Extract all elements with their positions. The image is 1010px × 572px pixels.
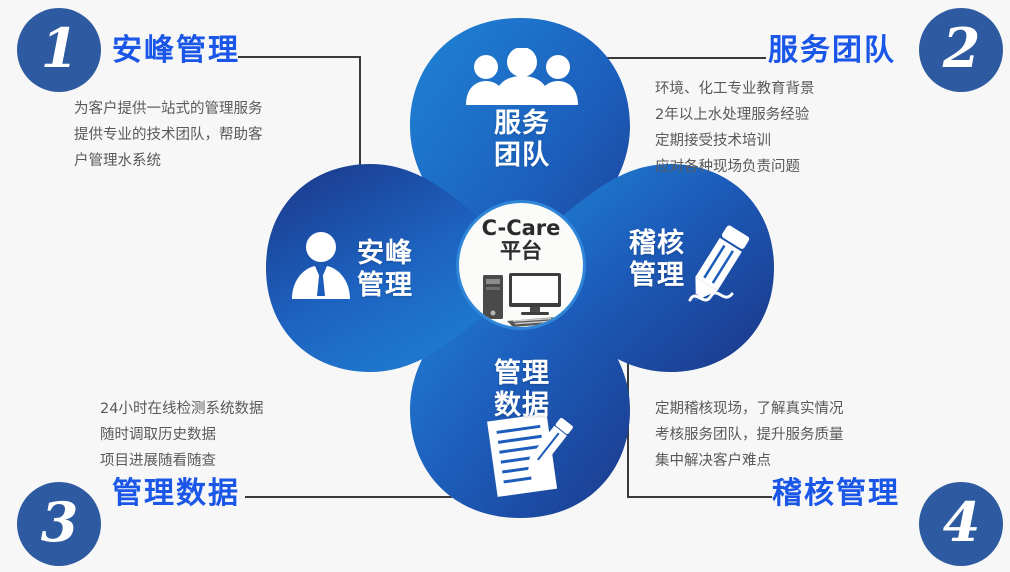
step-number-2: 2	[943, 21, 980, 75]
body-line: 户管理水系统	[74, 148, 263, 174]
center-hub[interactable]: C-Care 平台	[456, 200, 586, 330]
quadrant-title-3: 管理数据	[112, 468, 240, 512]
step-badge-4: 4	[919, 482, 1003, 566]
quadrant-body-1: 为客户提供一站式的管理服务提供专业的技术团队，帮助客户管理水系统	[74, 96, 263, 174]
people-group-icon	[464, 48, 580, 106]
body-line: 应对各种现场负责问题	[655, 154, 815, 180]
petal-label-right: 稽核 管理	[617, 228, 697, 292]
quadrant-title-1: 安峰管理	[112, 25, 240, 69]
body-line: 为客户提供一站式的管理服务	[74, 96, 263, 122]
desktop-computer-icon	[481, 271, 569, 327]
body-line: 提供专业的技术团队，帮助客	[74, 122, 263, 148]
body-line: 定期稽核现场，了解真实情况	[655, 396, 844, 422]
infographic-canvas: 服务 团队 安峰 管理 稽核 管理 管理 数据 C-Care 平台 1	[0, 0, 1010, 572]
body-line: 随时调取历史数据	[100, 422, 263, 448]
step-number-4: 4	[943, 495, 980, 549]
quadrant-body-3: 24小时在线检测系统数据随时调取历史数据项目进展随看随查	[100, 396, 263, 474]
quadrant-body-4: 定期稽核现场，了解真实情况考核服务团队，提升服务质量集中解决客户难点	[655, 396, 844, 474]
step-number-1: 1	[41, 21, 78, 75]
body-line: 24小时在线检测系统数据	[100, 396, 263, 422]
body-line: 项目进展随看随查	[100, 448, 263, 474]
step-badge-1: 1	[17, 8, 101, 92]
step-badge-3: 3	[17, 482, 101, 566]
petal-label-left: 安峰 管理	[345, 238, 425, 302]
body-line: 定期接受技术培训	[655, 128, 815, 154]
petal-label-bottom: 管理 数据	[482, 358, 562, 422]
quadrant-body-2: 环境、化工专业教育背景2年以上水处理服务经验定期接受技术培训应对各种现场负责问题	[655, 76, 815, 180]
step-number-3: 3	[41, 495, 78, 549]
quadrant-title-2: 服务团队	[768, 25, 896, 69]
petal-label-top: 服务 团队	[482, 108, 562, 172]
step-badge-2: 2	[919, 8, 1003, 92]
body-line: 集中解决客户难点	[655, 448, 844, 474]
hub-title: C-Care 平台	[459, 217, 583, 263]
body-line: 2年以上水处理服务经验	[655, 102, 815, 128]
body-line: 考核服务团队，提升服务质量	[655, 422, 844, 448]
body-line: 环境、化工专业教育背景	[655, 76, 815, 102]
quadrant-title-4: 稽核管理	[772, 468, 900, 512]
